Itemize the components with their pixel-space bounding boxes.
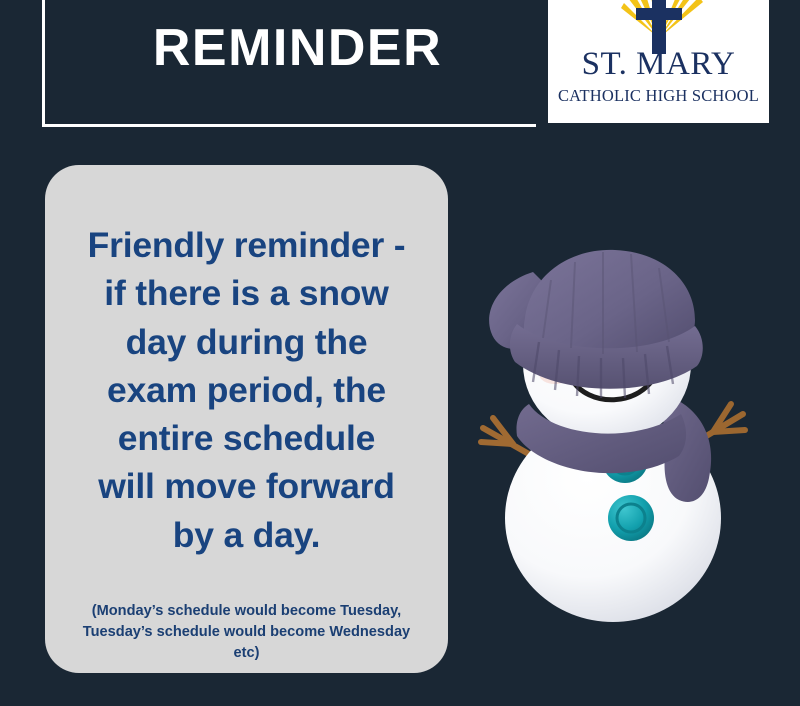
reminder-banner: REMINDER — [42, 0, 536, 127]
school-subtitle: CATHOLIC HIGH SCHOOL — [548, 88, 769, 105]
note-line: Tuesday’s schedule would become Wednesda… — [73, 622, 420, 643]
headline-line: exam period, the — [67, 366, 426, 414]
note-line: etc) — [73, 643, 420, 664]
headline-line: by a day. — [67, 511, 426, 559]
message-card: Friendly reminder - if there is a snow d… — [45, 165, 448, 673]
headline-line: if there is a snow — [67, 269, 426, 317]
reminder-poster: REMINDER ST. MARY CATHO — [0, 0, 800, 706]
headline-line: day during the — [67, 318, 426, 366]
school-logo: ST. MARY CATHOLIC HIGH SCHOOL — [548, 0, 769, 123]
school-name: ST. MARY — [548, 48, 769, 81]
headline-line: Friendly reminder - — [67, 221, 426, 269]
snowman-button — [608, 495, 654, 541]
snowman-illustration — [455, 246, 775, 646]
headline-line: entire schedule — [67, 414, 426, 462]
headline-line: will move forward — [67, 462, 426, 510]
page-title: REMINDER — [139, 22, 442, 96]
card-headline: Friendly reminder - if there is a snow d… — [67, 221, 426, 559]
card-note: (Monday’s schedule would become Tuesday,… — [67, 601, 426, 664]
note-line: (Monday’s schedule would become Tuesday, — [73, 601, 420, 622]
